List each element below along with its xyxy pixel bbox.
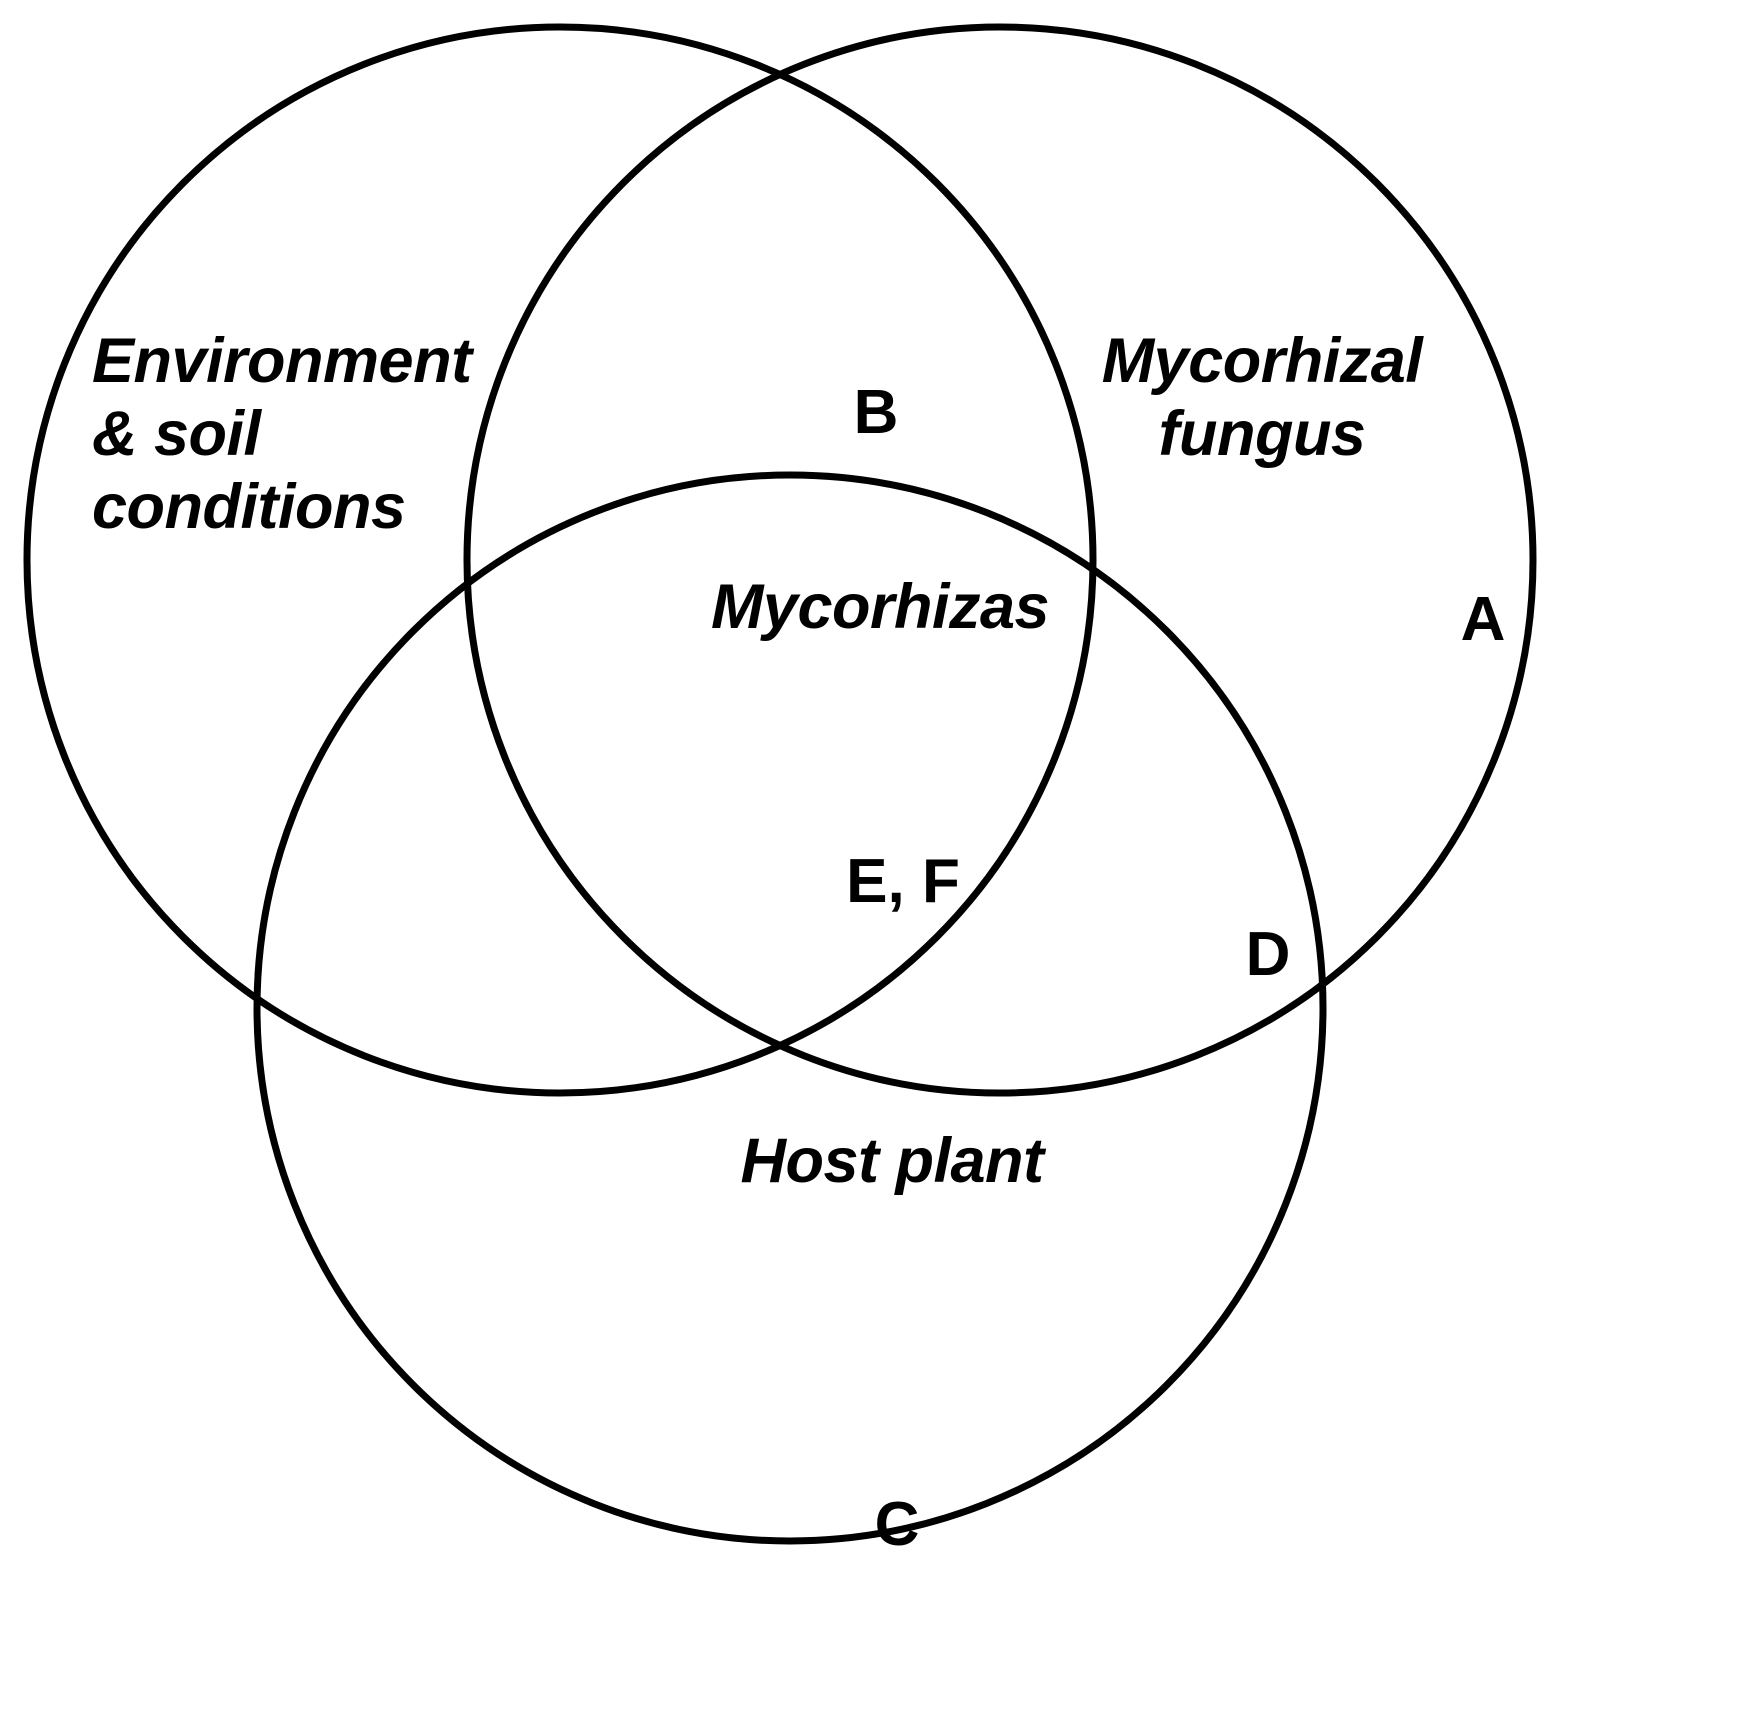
intersection-label-mycorhizas: Mycorhizas: [600, 571, 1160, 644]
set-label-environment-line1: Environment: [92, 326, 472, 396]
venn-diagram: Environment& soilconditions Mycorhizalfu…: [0, 0, 1753, 1711]
set-label-environment: Environment& soilconditions: [92, 325, 472, 544]
set-label-fungus-line1: Mycorhizal: [1102, 326, 1423, 396]
region-label-a: A: [1461, 584, 1506, 656]
set-label-host-plant: Host plant: [612, 1125, 1172, 1198]
set-label-fungus-line2: fungus: [1159, 399, 1366, 469]
region-label-c: C: [875, 1489, 920, 1561]
set-label-environment-line2: & soil: [92, 399, 261, 469]
region-label-b: B: [854, 377, 899, 449]
region-label-d: D: [1246, 919, 1291, 991]
set-label-mycorhizal-fungus: Mycorhizalfungus: [1062, 325, 1462, 471]
region-label-ef: E, F: [846, 846, 960, 918]
set-label-environment-line3: conditions: [92, 472, 405, 542]
